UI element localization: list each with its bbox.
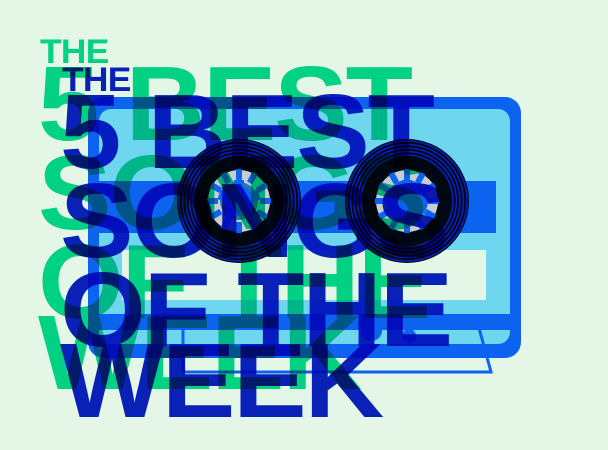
- kicker-text: THE: [40, 39, 109, 66]
- kicker-text-shadow: THE: [62, 67, 131, 94]
- cassette-inner-body: [99, 109, 510, 344]
- right-reel: [343, 137, 471, 265]
- cassette-sprocket-dot-small: [402, 329, 416, 343]
- left-reel: [175, 137, 303, 265]
- cassette-sprocket-dot-large: [361, 320, 382, 341]
- cassette-tape-graphic: [88, 97, 521, 358]
- poster-canvas: THE 5 BEST SONGS OF THE WEEK THE 5 BEST …: [0, 0, 608, 450]
